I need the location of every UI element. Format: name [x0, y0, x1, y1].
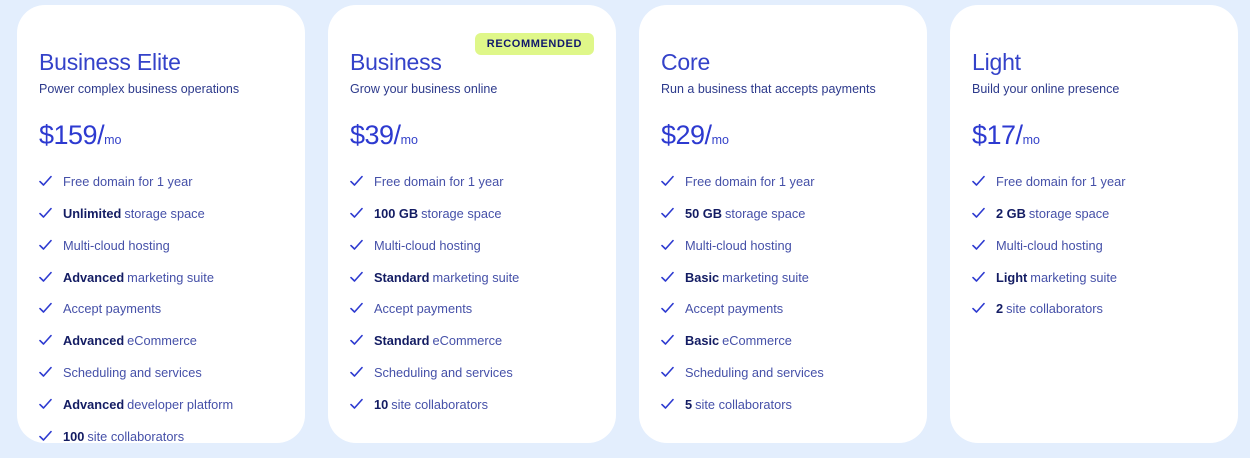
feature-highlight: Basic [685, 270, 719, 285]
feature-description: developer platform [127, 397, 233, 412]
check-icon [350, 398, 363, 411]
feature-description: marketing suite [722, 270, 809, 285]
feature-highlight: Advanced [63, 333, 124, 348]
plan-card[interactable]: RECOMMENDEDBusinessGrow your business on… [328, 5, 616, 443]
feature-label: 100site collaborators [63, 429, 184, 445]
feature-item: Multi-cloud hosting [972, 238, 1216, 254]
feature-item: 2site collaborators [972, 301, 1216, 317]
plan-subtitle: Power complex business operations [39, 81, 283, 97]
feature-highlight: 100 GB [374, 206, 418, 221]
feature-label: Free domain for 1 year [996, 174, 1125, 190]
check-icon [39, 239, 52, 252]
check-icon [39, 302, 52, 315]
feature-description: Multi-cloud hosting [685, 238, 792, 253]
feature-label: Unlimitedstorage space [63, 206, 205, 222]
feature-description: storage space [421, 206, 501, 221]
plan-card[interactable]: Business ElitePower complex business ope… [17, 5, 305, 443]
feature-item: Multi-cloud hosting [350, 238, 594, 254]
feature-description: Free domain for 1 year [685, 174, 814, 189]
check-icon [661, 175, 674, 188]
feature-description: Accept payments [374, 301, 472, 316]
feature-description: Multi-cloud hosting [63, 238, 170, 253]
feature-label: StandardeCommerce [374, 333, 502, 349]
feature-item: 100site collaborators [39, 429, 283, 445]
feature-item: Free domain for 1 year [350, 174, 594, 190]
feature-description: marketing suite [432, 270, 519, 285]
feature-highlight: 2 GB [996, 206, 1026, 221]
check-icon [350, 271, 363, 284]
feature-label: Basicmarketing suite [685, 270, 809, 286]
price-period: mo [104, 133, 121, 147]
feature-label: 5site collaborators [685, 397, 792, 413]
feature-item: 100 GBstorage space [350, 206, 594, 222]
feature-label: Scheduling and services [374, 365, 513, 381]
price-period: mo [712, 133, 729, 147]
feature-description: Multi-cloud hosting [996, 238, 1103, 253]
recommended-badge: RECOMMENDED [475, 33, 594, 55]
feature-highlight: 50 GB [685, 206, 722, 221]
feature-description: site collaborators [87, 429, 184, 444]
check-icon [661, 302, 674, 315]
feature-description: Accept payments [63, 301, 161, 316]
check-icon [350, 207, 363, 220]
feature-label: Scheduling and services [685, 365, 824, 381]
check-icon [350, 302, 363, 315]
feature-description: storage space [1029, 206, 1109, 221]
feature-item: Free domain for 1 year [972, 174, 1216, 190]
feature-description: storage space [725, 206, 805, 221]
feature-item: Advancedmarketing suite [39, 270, 283, 286]
feature-list: Free domain for 1 yearUnlimitedstorage s… [39, 174, 283, 446]
feature-label: Multi-cloud hosting [63, 238, 170, 254]
feature-highlight: 5 [685, 397, 692, 412]
feature-label: Lightmarketing suite [996, 270, 1117, 286]
feature-highlight: 2 [996, 301, 1003, 316]
plan-price: $39/mo [350, 120, 594, 151]
feature-label: 100 GBstorage space [374, 206, 502, 222]
check-icon [39, 366, 52, 379]
feature-item: Unlimitedstorage space [39, 206, 283, 222]
feature-label: Standardmarketing suite [374, 270, 519, 286]
check-icon [661, 334, 674, 347]
check-icon [972, 302, 985, 315]
check-icon [39, 430, 52, 443]
feature-item: Basicmarketing suite [661, 270, 905, 286]
feature-label: AdvancedeCommerce [63, 333, 197, 349]
feature-label: BasiceCommerce [685, 333, 792, 349]
feature-description: eCommerce [127, 333, 197, 348]
feature-item: Scheduling and services [39, 365, 283, 381]
feature-description: Scheduling and services [374, 365, 513, 380]
check-icon [350, 366, 363, 379]
feature-highlight: Light [996, 270, 1027, 285]
feature-description: marketing suite [1030, 270, 1117, 285]
feature-highlight: 10 [374, 397, 388, 412]
price-period: mo [401, 133, 418, 147]
feature-item: Free domain for 1 year [661, 174, 905, 190]
check-icon [661, 366, 674, 379]
feature-description: eCommerce [432, 333, 502, 348]
check-icon [350, 239, 363, 252]
check-icon [661, 239, 674, 252]
plan-title: Business Elite [39, 50, 283, 75]
price-amount: $17/ [972, 120, 1023, 150]
feature-item: 2 GBstorage space [972, 206, 1216, 222]
plan-subtitle: Build your online presence [972, 81, 1216, 97]
feature-label: Free domain for 1 year [685, 174, 814, 190]
feature-description: site collaborators [695, 397, 792, 412]
feature-list: Free domain for 1 year50 GBstorage space… [661, 174, 905, 414]
feature-description: Scheduling and services [63, 365, 202, 380]
feature-highlight: Standard [374, 270, 429, 285]
check-icon [972, 175, 985, 188]
plan-price: $17/mo [972, 120, 1216, 151]
feature-item: AdvancedeCommerce [39, 333, 283, 349]
feature-item: Advanceddeveloper platform [39, 397, 283, 413]
feature-label: Free domain for 1 year [374, 174, 503, 190]
feature-label: Accept payments [63, 301, 161, 317]
pricing-plans-grid: Business ElitePower complex business ope… [0, 0, 1250, 458]
check-icon [39, 207, 52, 220]
plan-card[interactable]: CoreRun a business that accepts payments… [639, 5, 927, 443]
feature-label: Accept payments [685, 301, 783, 317]
feature-label: Scheduling and services [63, 365, 202, 381]
feature-label: Advanceddeveloper platform [63, 397, 233, 413]
feature-highlight: Advanced [63, 270, 124, 285]
feature-highlight: Advanced [63, 397, 124, 412]
feature-item: StandardeCommerce [350, 333, 594, 349]
feature-highlight: Unlimited [63, 206, 121, 221]
feature-item: 10site collaborators [350, 397, 594, 413]
feature-item: Accept payments [39, 301, 283, 317]
feature-label: Advancedmarketing suite [63, 270, 214, 286]
feature-label: Multi-cloud hosting [996, 238, 1103, 254]
price-amount: $39/ [350, 120, 401, 150]
price-amount: $29/ [661, 120, 712, 150]
feature-highlight: Standard [374, 333, 429, 348]
check-icon [39, 271, 52, 284]
feature-description: marketing suite [127, 270, 214, 285]
feature-label: 50 GBstorage space [685, 206, 805, 222]
feature-description: Scheduling and services [685, 365, 824, 380]
check-icon [972, 271, 985, 284]
feature-item: Lightmarketing suite [972, 270, 1216, 286]
check-icon [661, 398, 674, 411]
feature-description: Free domain for 1 year [63, 174, 192, 189]
feature-item: Scheduling and services [661, 365, 905, 381]
feature-description: site collaborators [391, 397, 488, 412]
feature-item: Standardmarketing suite [350, 270, 594, 286]
feature-description: Free domain for 1 year [996, 174, 1125, 189]
feature-list: Free domain for 1 year2 GBstorage spaceM… [972, 174, 1216, 318]
feature-list: Free domain for 1 year100 GBstorage spac… [350, 174, 594, 414]
feature-item: Scheduling and services [350, 365, 594, 381]
check-icon [39, 334, 52, 347]
plan-price: $159/mo [39, 120, 283, 151]
feature-label: 2site collaborators [996, 301, 1103, 317]
check-icon [972, 239, 985, 252]
check-icon [972, 207, 985, 220]
feature-item: Multi-cloud hosting [39, 238, 283, 254]
feature-highlight: 100 [63, 429, 84, 444]
feature-description: Free domain for 1 year [374, 174, 503, 189]
check-icon [350, 334, 363, 347]
check-icon [350, 175, 363, 188]
feature-label: Free domain for 1 year [63, 174, 192, 190]
plan-card[interactable]: LightBuild your online presence$17/moFre… [950, 5, 1238, 443]
check-icon [661, 207, 674, 220]
feature-label: Accept payments [374, 301, 472, 317]
plan-title: Core [661, 50, 905, 75]
plan-title: Light [972, 50, 1216, 75]
feature-item: Free domain for 1 year [39, 174, 283, 190]
feature-item: BasiceCommerce [661, 333, 905, 349]
plan-price: $29/mo [661, 120, 905, 151]
check-icon [661, 271, 674, 284]
price-amount: $159/ [39, 120, 104, 150]
feature-description: site collaborators [1006, 301, 1103, 316]
check-icon [39, 175, 52, 188]
feature-item: Multi-cloud hosting [661, 238, 905, 254]
feature-description: storage space [124, 206, 204, 221]
feature-label: 10site collaborators [374, 397, 488, 413]
feature-highlight: Basic [685, 333, 719, 348]
feature-description: Accept payments [685, 301, 783, 316]
feature-description: Multi-cloud hosting [374, 238, 481, 253]
check-icon [39, 398, 52, 411]
feature-item: Accept payments [661, 301, 905, 317]
feature-label: Multi-cloud hosting [374, 238, 481, 254]
feature-label: Multi-cloud hosting [685, 238, 792, 254]
plan-subtitle: Run a business that accepts payments [661, 81, 905, 97]
feature-item: 5site collaborators [661, 397, 905, 413]
feature-item: 50 GBstorage space [661, 206, 905, 222]
price-period: mo [1023, 133, 1040, 147]
feature-item: Accept payments [350, 301, 594, 317]
feature-description: eCommerce [722, 333, 792, 348]
feature-label: 2 GBstorage space [996, 206, 1109, 222]
plan-subtitle: Grow your business online [350, 81, 594, 97]
